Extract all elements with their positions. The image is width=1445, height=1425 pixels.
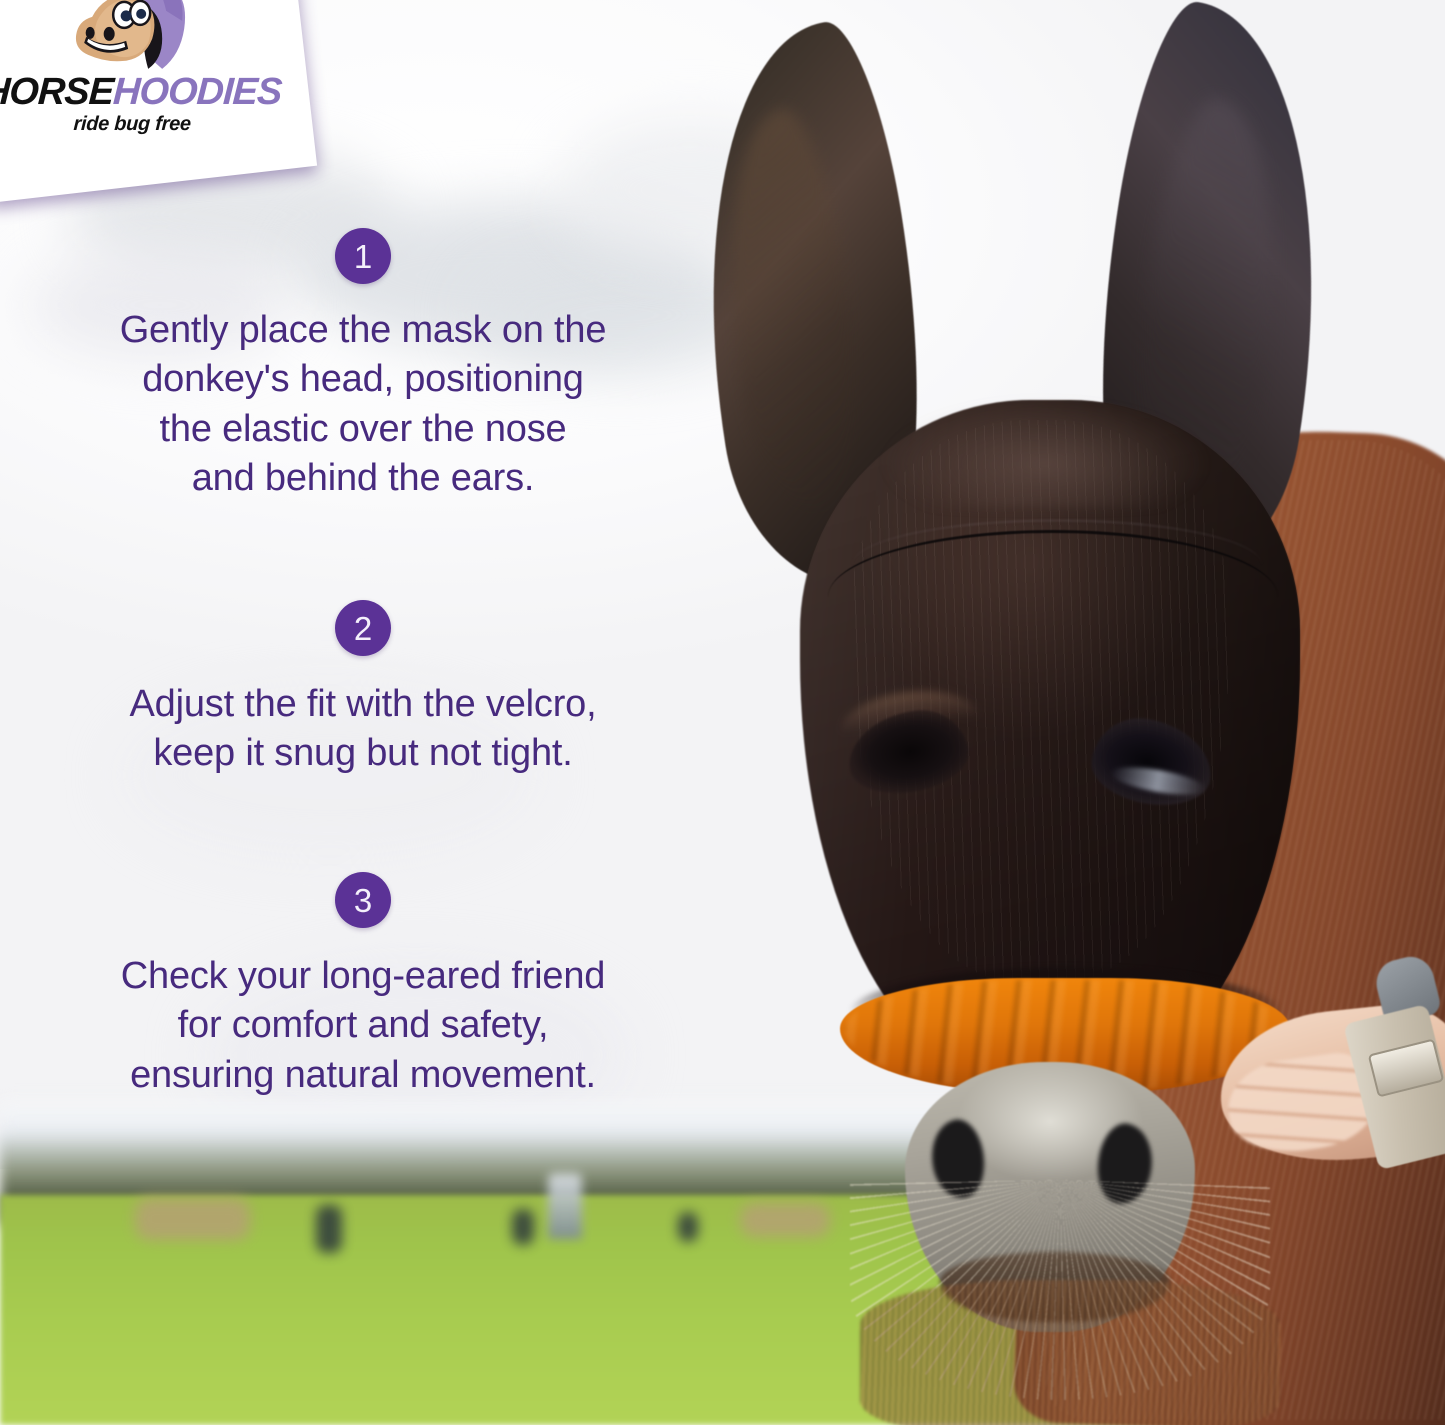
farm-structure [548,1173,582,1239]
brand-tagline: ride bug free [0,114,283,134]
brand-name-part1: HORSE [0,71,114,113]
brand-wordmark: HORSEHOODIES ride bug free [0,73,282,134]
grazing-animal [512,1209,534,1245]
product-photo [0,0,1445,1425]
donkey-poll-highlight [880,398,1210,508]
grazing-animal [678,1212,698,1242]
cloud-blob [30,250,290,360]
hay-bale [135,1198,250,1240]
infographic-canvas: HORSEHOODIES ride bug free 1 Gently plac… [0,0,1445,1425]
brand-name-part2: HOODIES [112,71,282,113]
donkey-chin-fur [860,1280,1280,1425]
grazing-animal [316,1205,342,1253]
donkey-wearing-fly-mask [700,0,1445,1425]
brand-logo[interactable]: HORSEHOODIES ride bug free [0,0,282,147]
cloud-blob [120,690,540,860]
